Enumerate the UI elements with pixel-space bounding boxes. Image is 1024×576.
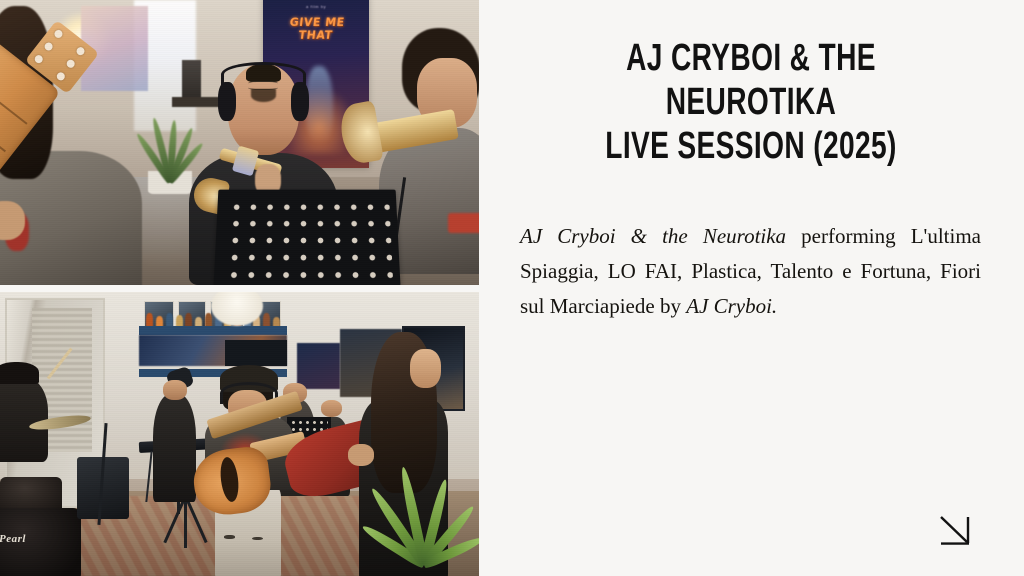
- photo-top-band-horns: a film by GIVE ME THAT: [0, 0, 479, 285]
- bass-drum: Pearl: [0, 508, 81, 576]
- description-artist-tail: AJ Cryboi.: [686, 294, 777, 318]
- wall-shelf-upper: [139, 326, 287, 335]
- photo-top-scene: a film by GIVE ME THAT: [0, 0, 479, 285]
- bassist-face: [410, 349, 442, 388]
- description-artist-lead: AJ Cryboi & the Neurotika: [520, 224, 786, 248]
- headphones-band: [221, 62, 306, 87]
- headphone-cup-left: [218, 82, 236, 121]
- text-panel: AJ Cryboi & the Neurotika Live Session (…: [479, 0, 1024, 576]
- music-stand-perforated: [213, 190, 400, 285]
- slide-canvas: a film by GIVE ME THAT: [0, 0, 1024, 576]
- background-player-keys-head: [163, 380, 187, 400]
- page-title: AJ Cryboi & the Neurotika Live Session (…: [566, 36, 936, 168]
- drummer-cap: [0, 362, 39, 384]
- beard: [251, 89, 275, 102]
- horn-player-graphic: [448, 213, 479, 233]
- poster-subtext: a film by: [287, 4, 346, 9]
- background-player-seated-head: [321, 400, 343, 417]
- wall-artwork-dark: [225, 340, 287, 366]
- photo-bottom-scene: Pearl: [0, 292, 479, 576]
- music-stand-holes: [221, 195, 393, 280]
- arrow-down-right-icon: [939, 515, 973, 547]
- media-column: a film by GIVE ME THAT: [0, 0, 479, 576]
- drum-brand-label: Pearl: [0, 533, 26, 545]
- potted-plant-foreground: [364, 428, 479, 576]
- photo-bottom-band-room: Pearl: [0, 292, 479, 576]
- headphone-cup-right: [291, 82, 309, 121]
- description-paragraph: AJ Cryboi & the Neurotika performing L'u…: [520, 219, 981, 324]
- background-player-keys: [153, 394, 196, 502]
- guitarist-foreground: [0, 6, 182, 285]
